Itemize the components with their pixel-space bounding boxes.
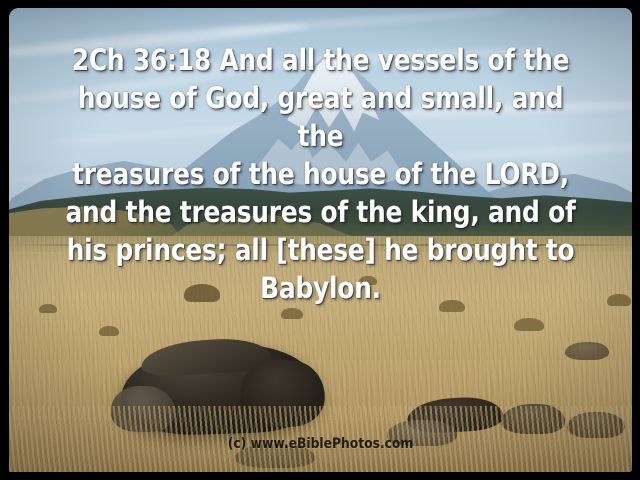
grass-tuft	[359, 276, 377, 285]
grass-texture	[9, 236, 632, 472]
photo-frame: 2Ch 36:18 And all the vessels of the hou…	[0, 0, 640, 480]
grass-tuft	[607, 294, 631, 306]
dark-rock	[235, 444, 315, 468]
bible-verse-photograph: 2Ch 36:18 And all the vessels of the hou…	[9, 8, 632, 472]
grass-tuft	[514, 318, 544, 331]
grass-tuft	[439, 300, 465, 312]
grass-tuft	[184, 284, 220, 302]
grass-tuft	[281, 308, 303, 319]
pale-rock	[387, 420, 457, 446]
grass-tuft	[39, 304, 57, 313]
boulder-left-lobe	[111, 386, 175, 432]
small-rock	[565, 342, 609, 360]
dark-rock	[567, 412, 625, 438]
dark-rock	[501, 404, 565, 434]
grass-tuft	[99, 326, 119, 336]
